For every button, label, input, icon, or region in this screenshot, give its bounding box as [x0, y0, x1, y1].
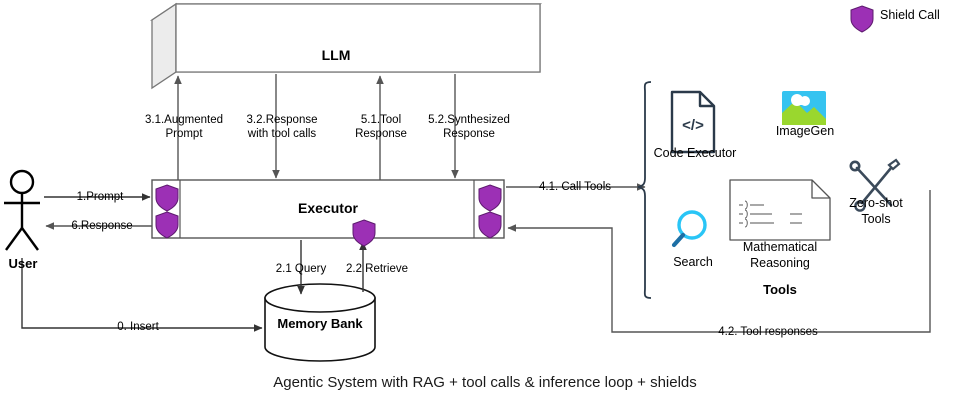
tool-label-search: Search — [660, 255, 726, 271]
tool-label-code-executor: Code Executor — [640, 146, 750, 162]
shield-icon[interactable] — [156, 212, 178, 238]
edge-label-1-prompt: 1.Prompt — [52, 190, 148, 204]
diagram-caption: Agentic System with RAG + tool calls & i… — [0, 374, 970, 391]
memory-bank-label: Memory Bank — [272, 316, 368, 332]
tool-label-imagegen: ImageGen — [762, 124, 848, 140]
user-label: User — [0, 256, 46, 272]
edge-label-4-1: 4.1. Call Tools — [520, 180, 630, 194]
legend-label: Shield Call — [880, 8, 968, 24]
llm-label: LLM — [296, 47, 376, 65]
edge-label-4-2: 4.2. Tool responses — [668, 325, 868, 339]
edge-label-0-insert: 0. Insert — [78, 320, 198, 334]
edge-label-2-2: 2.2 Retrieve — [334, 262, 420, 276]
edge-label-3-1: 3.1.Augmented Prompt — [138, 113, 230, 142]
edge-label-3-2: 3.2.Response with tool calls — [228, 113, 336, 142]
tool-label-math-reasoning: Mathematical Reasoning — [726, 240, 834, 271]
edge-label-2-1: 2.1 Query — [262, 262, 340, 276]
shield-icon[interactable] — [479, 185, 501, 211]
edge-label-5-2: 5.2.Synthesized Response — [418, 113, 520, 142]
tool-label-zero-shot: Zero-shot Tools — [836, 196, 916, 227]
shield-icon[interactable] — [156, 185, 178, 211]
shield-layer — [0, 0, 970, 411]
edge-label-6-response: 6.Response — [50, 219, 154, 233]
executor-label: Executor — [268, 200, 388, 218]
shield-icon[interactable] — [353, 220, 375, 246]
tools-group-label: Tools — [735, 282, 825, 298]
edge-label-5-1: 5.1.Tool Response — [341, 113, 421, 142]
shield-icon[interactable] — [479, 212, 501, 238]
legend-shield-icon — [851, 6, 873, 32]
